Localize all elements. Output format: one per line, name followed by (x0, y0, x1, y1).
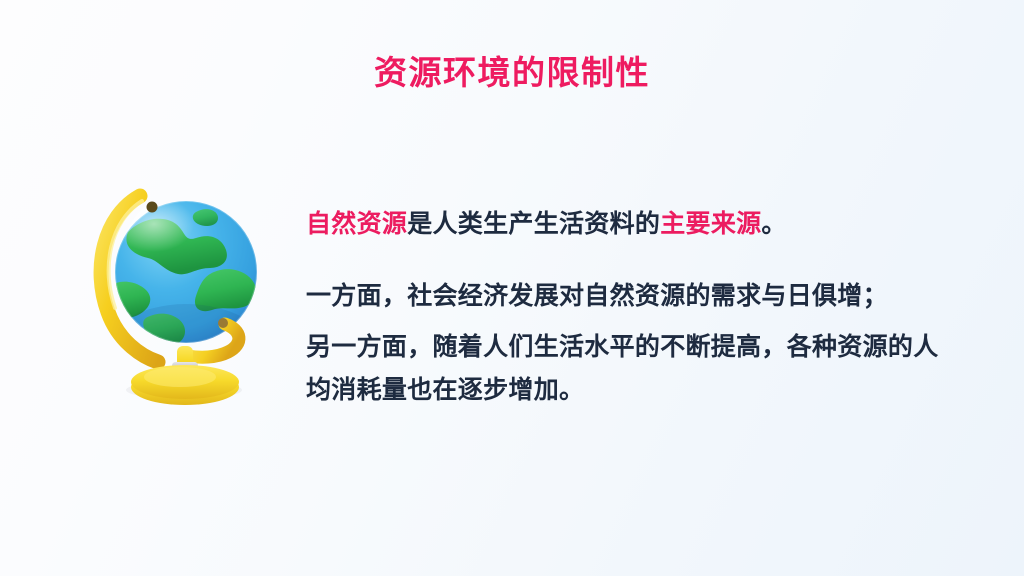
paragraph-lead: 自然资源是人类生产生活资料的主要来源。 (306, 203, 966, 246)
globe-axis-pin-top (147, 202, 158, 213)
page-title: 资源环境的限制性 (0, 52, 1024, 94)
lead-tail-text: 。 (761, 210, 786, 238)
globe-axis-pin-bottom (218, 318, 228, 328)
lead-middle-text: 是人类生产生活资料的 (407, 210, 660, 238)
slide-canvas: 资源环境的限制性 (0, 0, 1024, 576)
globe-illustration (92, 176, 282, 408)
highlight-main-source: 主要来源 (660, 210, 761, 238)
body-text-block: 自然资源是人类生产生活资料的主要来源。 一方面，社会经济发展对自然资源的需求与日… (306, 203, 966, 412)
paragraph-three: 另一方面，随着人们生活水平的不断提高，各种资源的人均消耗量也在逐步增加。 (306, 326, 954, 412)
paragraph-two: 一方面，社会经济发展对自然资源的需求与日俱增； (306, 275, 966, 318)
highlight-natural-resources: 自然资源 (306, 210, 407, 238)
